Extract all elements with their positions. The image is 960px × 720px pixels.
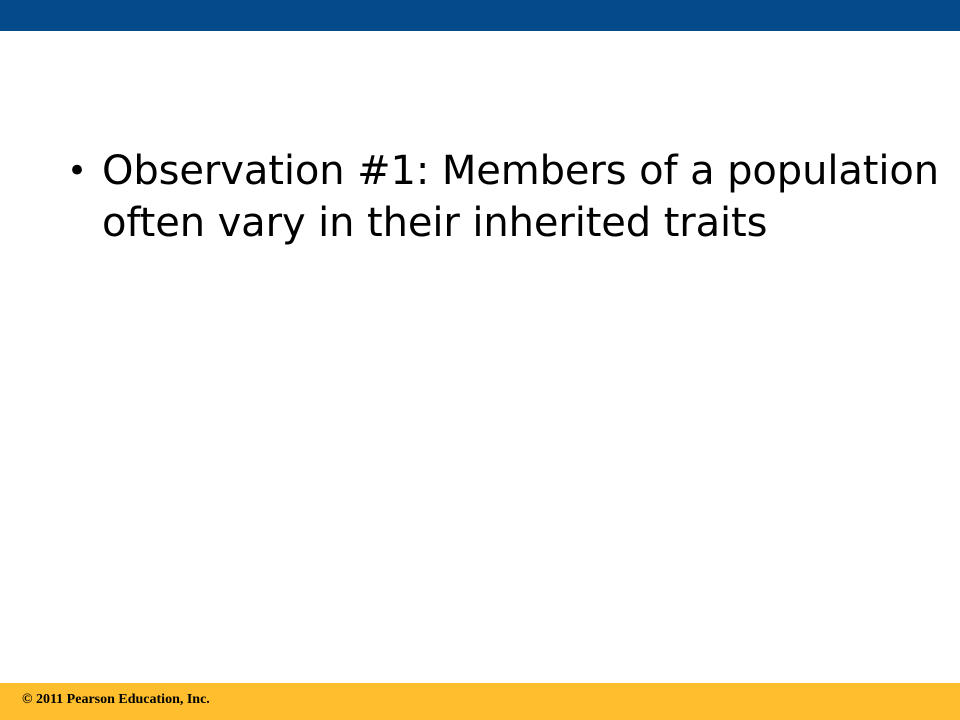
list-item: • Observation #1: Members of a populatio…: [62, 145, 942, 249]
copyright-notice: © 2011 Pearson Education, Inc.: [22, 691, 210, 709]
bullet-item-text: Observation #1: Members of a population …: [102, 145, 942, 249]
slide-footer-band: © 2011 Pearson Education, Inc.: [0, 683, 960, 720]
slide-top-accent-band: [0, 0, 960, 31]
bullet-list: • Observation #1: Members of a populatio…: [62, 145, 942, 249]
bullet-point-icon: •: [67, 145, 87, 197]
presentation-slide: • Observation #1: Members of a populatio…: [0, 0, 960, 720]
slide-body: • Observation #1: Members of a populatio…: [0, 31, 960, 683]
